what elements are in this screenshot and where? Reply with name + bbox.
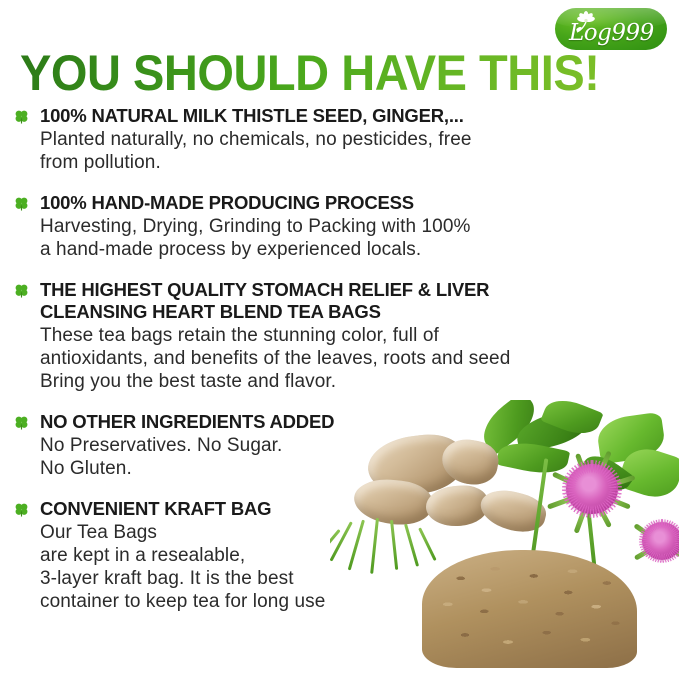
clover-icon <box>14 502 29 517</box>
clover-icon <box>14 196 29 211</box>
list-item: 100% HAND-MADE PRODUCING PROCESS Harvest… <box>14 192 614 261</box>
list-item-title: CONVENIENT KRAFT BAG <box>40 498 614 520</box>
thistle-flower-group <box>630 512 679 574</box>
clover-icon <box>14 283 29 298</box>
list-item-title: 100% NATURAL MILK THISTLE SEED, GINGER,.… <box>40 105 614 127</box>
thistle-bract <box>633 523 662 545</box>
benefits-list: 100% NATURAL MILK THISTLE SEED, GINGER,.… <box>14 105 614 631</box>
leaf-shape <box>616 442 679 504</box>
list-item: THE HIGHEST QUALITY STOMACH RELIEF & LIV… <box>14 279 614 393</box>
thistle-bract <box>660 525 679 545</box>
thistle-flower <box>642 522 679 560</box>
list-item-body: Planted naturally, no chemicals, no pest… <box>40 128 614 174</box>
list-item-body: Our Tea Bags are kept in a resealable, 3… <box>40 521 614 613</box>
infographic-page: Log999 YOU SHOULD HAVE THIS! <box>0 0 679 679</box>
list-item-body: No Preservatives. No Sugar. No Gluten. <box>40 434 614 480</box>
thistle-bract <box>660 541 679 560</box>
list-item-title: THE HIGHEST QUALITY STOMACH RELIEF & LIV… <box>40 279 614 323</box>
page-title: YOU SHOULD HAVE THIS! <box>20 47 599 99</box>
logo-text: Log999 <box>569 20 665 46</box>
list-item: NO OTHER INGREDIENTS ADDED No Preservati… <box>14 411 614 480</box>
list-item: 100% NATURAL MILK THISTLE SEED, GINGER,.… <box>14 105 614 174</box>
list-item: CONVENIENT KRAFT BAG Our Tea Bags are ke… <box>14 498 614 613</box>
list-item-title: 100% HAND-MADE PRODUCING PROCESS <box>40 192 614 214</box>
list-item-body: Harvesting, Drying, Grinding to Packing … <box>40 215 614 261</box>
list-item-title: NO OTHER INGREDIENTS ADDED <box>40 411 614 433</box>
clover-icon <box>14 109 29 124</box>
clover-icon <box>14 415 29 430</box>
list-item-body: These tea bags retain the stunning color… <box>40 324 614 393</box>
brand-logo-badge: Log999 <box>555 8 667 50</box>
thistle-bract <box>634 541 662 560</box>
